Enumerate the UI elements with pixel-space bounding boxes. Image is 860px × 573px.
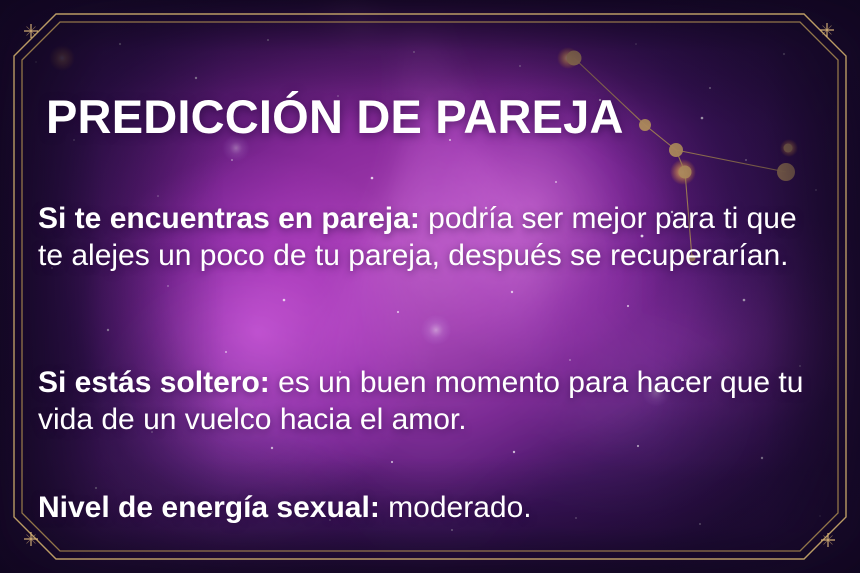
paragraph-energy-text: moderado. <box>380 491 532 524</box>
paragraph-single-lead: Si estás soltero: <box>38 366 270 399</box>
poster-content: PREDICCIÓN DE PAREJA Si te encuentras en… <box>0 0 860 573</box>
paragraph-energy: Nivel de energía sexual: moderado. <box>38 489 828 526</box>
paragraph-energy-lead: Nivel de energía sexual: <box>38 491 380 524</box>
page-title: PREDICCIÓN DE PAREJA <box>46 92 624 142</box>
paragraph-couple: Si te encuentras en pareja: podría ser m… <box>38 200 828 274</box>
paragraph-couple-lead: Si te encuentras en pareja: <box>38 202 420 235</box>
horoscope-poster: PREDICCIÓN DE PAREJA Si te encuentras en… <box>0 0 860 573</box>
paragraph-single: Si estás soltero: es un buen momento par… <box>38 364 828 438</box>
